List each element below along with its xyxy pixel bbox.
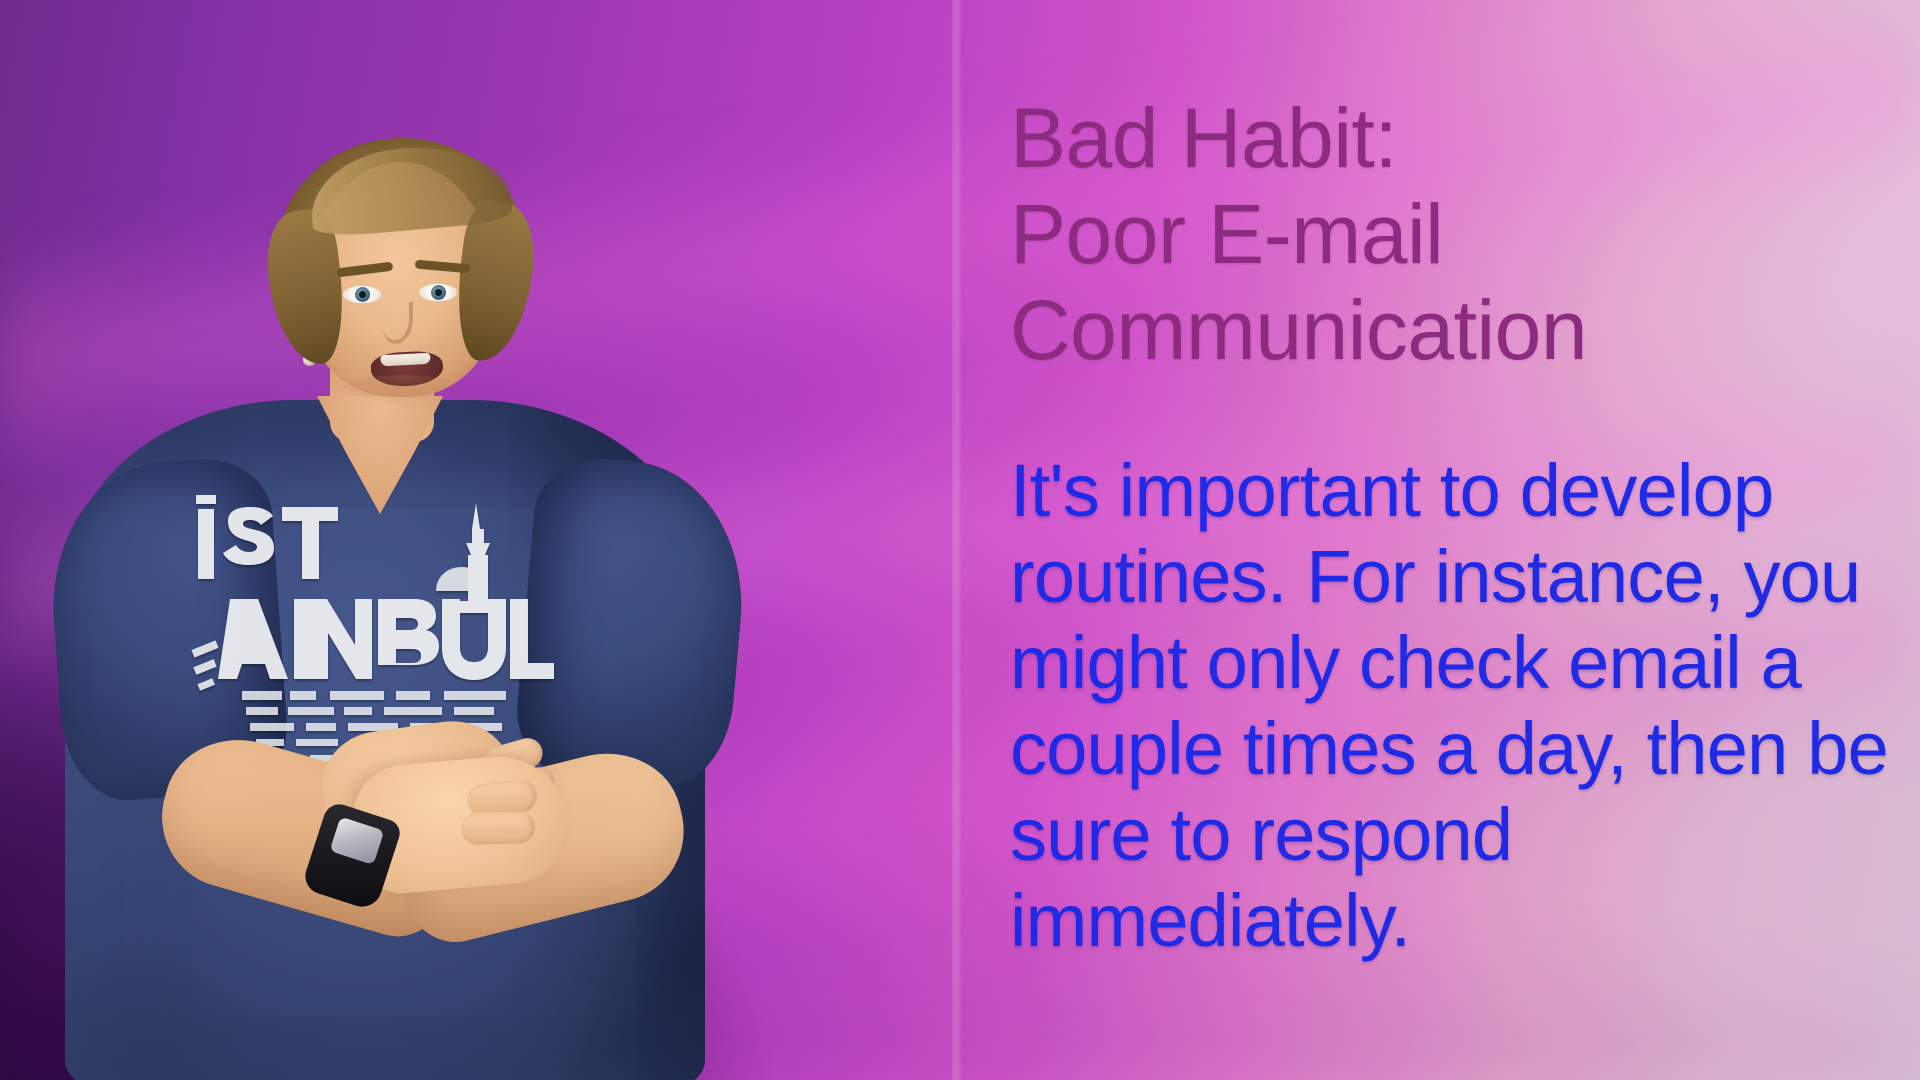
- chin-shadow: [337, 375, 467, 407]
- slide-title: Bad Habit: Poor E-mail Communication: [1010, 90, 1890, 378]
- eye-left: [343, 286, 381, 303]
- slide-panel: Bad Habit: Poor E-mail Communication It'…: [958, 0, 1920, 1080]
- eye-right: [419, 284, 457, 301]
- iris-left: [355, 287, 370, 302]
- video-panel: [0, 0, 958, 1080]
- pupil-right: [435, 289, 442, 296]
- slide-stage: Bad Habit: Poor E-mail Communication It'…: [0, 0, 1920, 1080]
- wristwatch-face: [330, 817, 385, 865]
- finger-4: [460, 811, 535, 846]
- pupil-left: [359, 291, 366, 298]
- teeth: [380, 353, 431, 367]
- slide-body-text: It's important to develop routines. For …: [1010, 448, 1900, 964]
- presenter-figure: [55, 70, 735, 1080]
- iris-right: [431, 285, 446, 300]
